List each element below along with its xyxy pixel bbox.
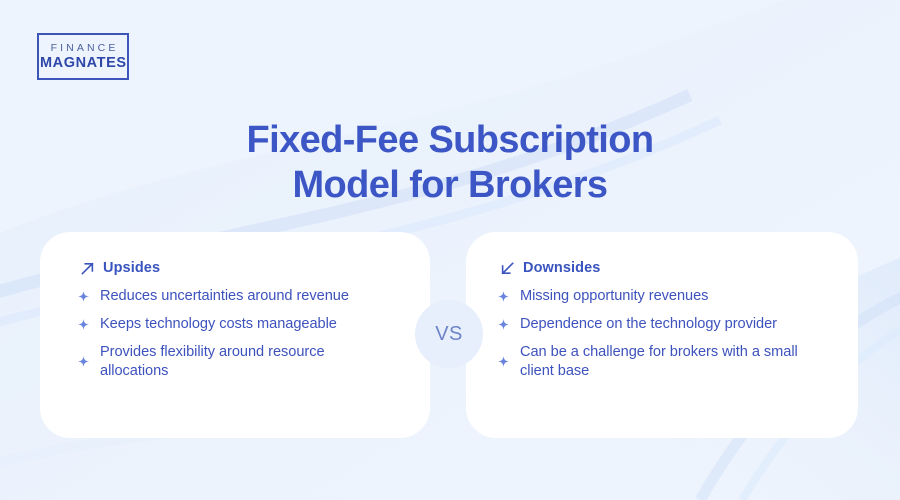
list-item: Reduces uncertainties around revenue [78,287,396,306]
card-downsides-header: Downsides [466,232,858,276]
arrow-up-right-icon [80,261,95,276]
sparkle-icon [78,291,89,302]
versus-label: VS [435,323,462,346]
list-item-text: Reduces uncertainties around revenue [100,287,349,306]
sparkle-icon [498,319,509,330]
card-upsides-list: Reduces uncertainties around revenue Kee… [40,276,430,381]
page-title-line-1: Fixed-Fee Subscription [0,118,900,162]
card-upsides: Upsides Reduces uncertainties around rev… [40,232,430,438]
sparkle-icon [78,319,89,330]
page-title: Fixed-Fee Subscription Model for Brokers [0,118,900,207]
list-item-text: Provides flexibility around resource all… [100,343,396,381]
card-upsides-header: Upsides [40,232,430,276]
list-item: Can be a challenge for brokers with a sm… [498,343,830,381]
sparkle-icon [498,291,509,302]
brand-logo: FINANCE MAGNATES [37,33,129,80]
list-item-text: Missing opportunity revenues [520,287,708,306]
list-item-text: Can be a challenge for brokers with a sm… [520,343,830,381]
list-item: Dependence on the technology provider [498,315,830,334]
sparkle-icon [498,356,509,367]
list-item: Missing opportunity revenues [498,287,830,306]
arrow-down-left-icon [500,261,515,276]
card-downsides-list: Missing opportunity revenues Dependence … [466,276,858,381]
infographic-canvas: FINANCE MAGNATES Fixed-Fee Subscription … [0,0,900,500]
list-item-text: Dependence on the technology provider [520,315,777,334]
sparkle-icon [78,356,89,367]
list-item: Provides flexibility around resource all… [78,343,396,381]
versus-badge: VS [415,300,483,368]
card-downsides-title: Downsides [523,260,600,276]
logo-line-magnates: MAGNATES [39,56,126,71]
logo-line-finance: FINANCE [48,43,119,54]
list-item: Keeps technology costs manageable [78,315,396,334]
list-item-text: Keeps technology costs manageable [100,315,337,334]
card-downsides: Downsides Missing opportunity revenues D… [466,232,858,438]
card-upsides-title: Upsides [103,260,160,276]
page-title-line-2: Model for Brokers [0,163,900,207]
